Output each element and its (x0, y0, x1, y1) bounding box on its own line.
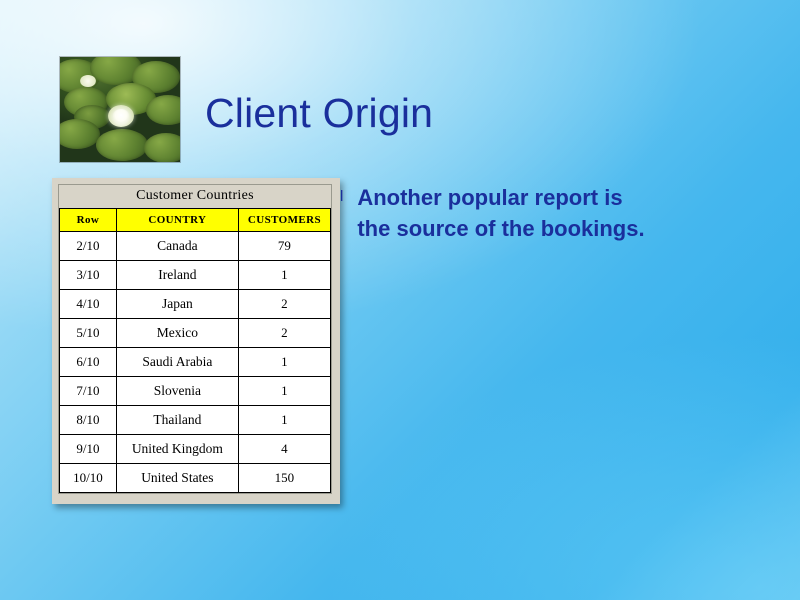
cell-customers: 1 (238, 406, 330, 435)
lily-pad-icon (144, 133, 180, 162)
table-row: 7/10 Slovenia 1 (60, 377, 331, 406)
water-lily-flower-icon (80, 75, 96, 87)
cell-row: 4/10 (60, 290, 117, 319)
column-header-country: COUNTRY (116, 209, 238, 232)
cell-customers: 1 (238, 261, 330, 290)
cell-country: Japan (116, 290, 238, 319)
cell-row: 2/10 (60, 232, 117, 261)
report-caption: Customer Countries (59, 185, 331, 208)
bullet-list-item: l Another popular report is the source o… (340, 182, 740, 244)
cell-customers: 2 (238, 319, 330, 348)
cell-country: Ireland (116, 261, 238, 290)
cell-customers: 150 (238, 464, 330, 493)
cell-row: 9/10 (60, 435, 117, 464)
water-lily-pond-photo (60, 57, 180, 162)
cell-row: 10/10 (60, 464, 117, 493)
report-screenshot: Customer Countries Row COUNTRY CUSTOMERS (52, 178, 340, 504)
table-row: 5/10 Mexico 2 (60, 319, 331, 348)
table-row: 2/10 Canada 79 (60, 232, 331, 261)
water-lily-flower-icon (108, 105, 134, 127)
table-row: 4/10 Japan 2 (60, 290, 331, 319)
presentation-slide: Client Origin Customer Countries Row COU… (0, 0, 800, 600)
page-title: Client Origin (205, 90, 433, 137)
cell-country: Saudi Arabia (116, 348, 238, 377)
cell-country: Canada (116, 232, 238, 261)
lily-pad-icon (96, 129, 148, 161)
table-row: 10/10 United States 150 (60, 464, 331, 493)
cell-country: United Kingdom (116, 435, 238, 464)
cell-country: Mexico (116, 319, 238, 348)
table-row: 9/10 United Kingdom 4 (60, 435, 331, 464)
column-header-customers: CUSTOMERS (238, 209, 330, 232)
cell-row: 6/10 (60, 348, 117, 377)
cell-row: 7/10 (60, 377, 117, 406)
cell-customers: 4 (238, 435, 330, 464)
table-header-row: Row COUNTRY CUSTOMERS (60, 209, 331, 232)
cell-row: 5/10 (60, 319, 117, 348)
report-frame: Customer Countries Row COUNTRY CUSTOMERS (58, 184, 332, 494)
cell-customers: 1 (238, 377, 330, 406)
cell-country: Thailand (116, 406, 238, 435)
customer-countries-table: Row COUNTRY CUSTOMERS 2/10 Canada 79 3/1… (59, 208, 331, 493)
cell-country: Slovenia (116, 377, 238, 406)
bullet-marker-icon: l (340, 189, 343, 204)
cell-row: 3/10 (60, 261, 117, 290)
table-row: 3/10 Ireland 1 (60, 261, 331, 290)
cell-row: 8/10 (60, 406, 117, 435)
bullet-text: Another popular report is the source of … (357, 182, 657, 244)
cell-customers: 2 (238, 290, 330, 319)
table-row: 8/10 Thailand 1 (60, 406, 331, 435)
column-header-row: Row (60, 209, 117, 232)
cell-customers: 1 (238, 348, 330, 377)
cell-customers: 79 (238, 232, 330, 261)
cell-country: United States (116, 464, 238, 493)
table-row: 6/10 Saudi Arabia 1 (60, 348, 331, 377)
